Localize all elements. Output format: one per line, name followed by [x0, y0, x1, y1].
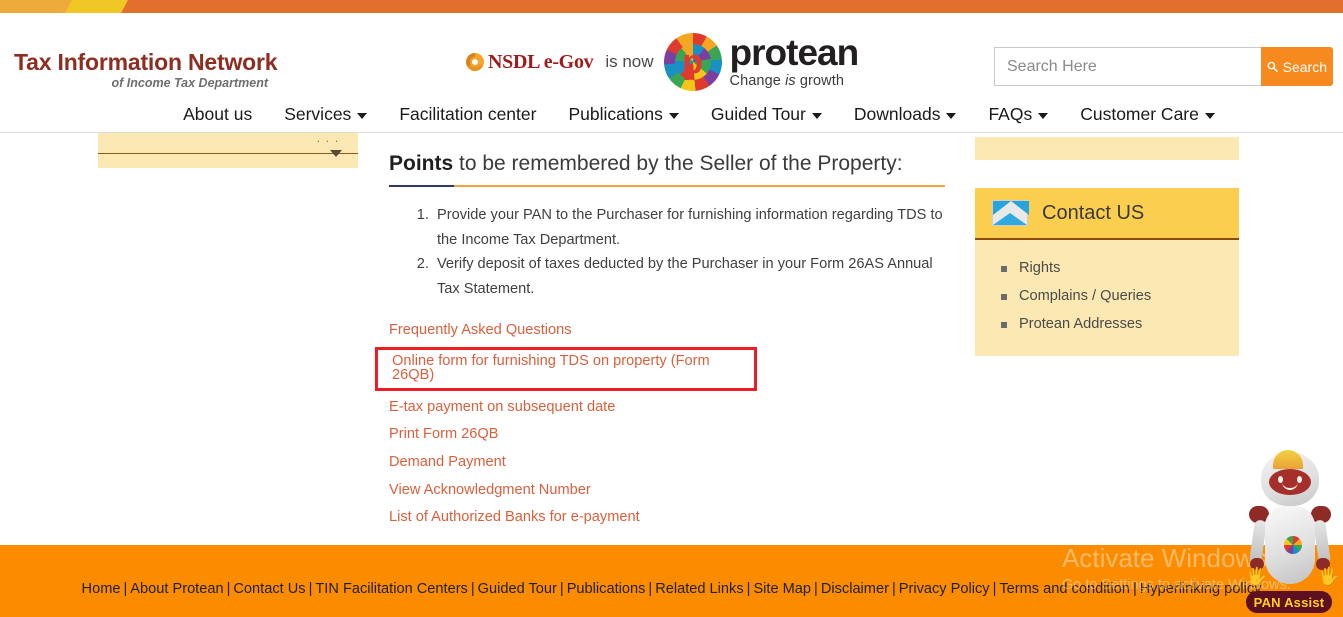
- nav-item-facilitation-center[interactable]: Facilitation center: [383, 104, 552, 125]
- right-sidebar-panel-top-fragment: [975, 137, 1239, 160]
- nav-item-downloads[interactable]: Downloads: [838, 104, 973, 125]
- robot-hand-right: 🖐: [1318, 568, 1334, 584]
- footer-separator: |: [468, 581, 478, 597]
- nsdl-swirl-icon: [466, 53, 484, 71]
- link-demand-payment[interactable]: Demand Payment: [389, 449, 506, 477]
- search-bar: Search: [994, 47, 1333, 86]
- footer-separator: |: [645, 581, 655, 597]
- chevron-down-icon: [357, 113, 367, 119]
- footer-separator: |: [306, 581, 316, 597]
- nav-item-customer-care[interactable]: Customer Care: [1064, 104, 1231, 125]
- footer-link-disclaimer[interactable]: Disclaimer: [821, 581, 889, 597]
- nav-item-services[interactable]: Services: [268, 104, 383, 125]
- page-title: Points to be remembered by the Seller of…: [389, 152, 945, 185]
- chevron-down-icon[interactable]: [330, 150, 342, 157]
- left-sidebar-panel[interactable]: ...: [98, 133, 358, 168]
- footer-link-terms-and-condition[interactable]: Terms and condition: [999, 581, 1130, 597]
- pan-assist-widget[interactable]: 🖐 🖐 PAN Assist: [1240, 448, 1340, 616]
- footer-link-tin-facilitation-centers[interactable]: TIN Facilitation Centers: [315, 581, 467, 597]
- footer-link-guided-tour[interactable]: Guided Tour: [478, 581, 557, 597]
- contact-us-title: Contact US: [1042, 202, 1144, 225]
- link-view-acknowledgment-number[interactable]: View Acknowledgment Number: [389, 477, 591, 505]
- footer-links: Home|About Protean|Contact Us|TIN Facili…: [0, 581, 1343, 597]
- page-root: Tax Information Network of Income Tax De…: [0, 0, 1343, 617]
- partner-logo-block: NSDL e-Gov is now protean Change is grow…: [466, 33, 858, 91]
- link-online-form-26qb[interactable]: Online form for furnishing TDS on proper…: [375, 347, 757, 391]
- link-etax-subsequent-date[interactable]: E-tax payment on subsequent date: [389, 394, 615, 422]
- nav-label: FAQs: [988, 104, 1032, 125]
- site-header: Tax Information Network of Income Tax De…: [0, 13, 1343, 120]
- title-underline: [389, 185, 945, 187]
- page-title-bold: Points: [389, 152, 453, 175]
- nav-item-about-us[interactable]: About us: [167, 104, 268, 125]
- brand-block[interactable]: Tax Information Network of Income Tax De…: [14, 50, 314, 90]
- link-print-form-26qb[interactable]: Print Form 26QB: [389, 421, 498, 449]
- footer-link-about-protean[interactable]: About Protean: [130, 581, 223, 597]
- footer-separator: |: [811, 581, 821, 597]
- brand-subtitle: of Income Tax Department: [14, 76, 268, 90]
- related-links-list: Frequently Asked Questions Online form f…: [389, 317, 945, 532]
- chevron-down-icon: [1205, 113, 1215, 119]
- main-navigation: About us Services Facilitation center Pu…: [0, 95, 1343, 133]
- protean-wordmark: protean Change is growth: [730, 35, 859, 89]
- nav-label: About us: [183, 104, 252, 125]
- top-decorative-strip: [0, 0, 1343, 13]
- tagline-part-1: Change: [730, 73, 786, 89]
- nav-label: Facilitation center: [399, 104, 536, 125]
- contact-us-list: Rights Complains / Queries Protean Addre…: [975, 240, 1239, 356]
- tagline-part-2: growth: [796, 73, 844, 89]
- footer-separator: |: [224, 581, 234, 597]
- footer-separator: |: [557, 581, 567, 597]
- list-item: Provide your PAN to the Purchaser for fu…: [433, 203, 945, 252]
- nav-item-guided-tour[interactable]: Guided Tour: [695, 104, 838, 125]
- chevron-down-icon: [812, 113, 822, 119]
- contact-item-rights[interactable]: Rights: [975, 254, 1239, 282]
- nav-label: Services: [284, 104, 351, 125]
- footer-link-privacy-policy[interactable]: Privacy Policy: [899, 581, 990, 597]
- footer-link-publications[interactable]: Publications: [567, 581, 646, 597]
- page-title-rest: to be remembered by the Seller of the Pr…: [453, 152, 902, 175]
- footer-link-home[interactable]: Home: [82, 581, 121, 597]
- footer-separator: |: [889, 581, 899, 597]
- chevron-down-icon: [669, 113, 679, 119]
- footer-link-contact-us[interactable]: Contact Us: [233, 581, 305, 597]
- footer-link-site-map[interactable]: Site Map: [753, 581, 811, 597]
- search-input[interactable]: [994, 47, 1261, 86]
- link-faq[interactable]: Frequently Asked Questions: [389, 317, 572, 345]
- left-sidebar-divider: [98, 153, 358, 154]
- contact-us-card: Contact US Rights Complains / Queries Pr…: [975, 188, 1239, 356]
- nav-label: Guided Tour: [711, 104, 806, 125]
- chevron-down-icon: [946, 113, 956, 119]
- robot-face: [1269, 469, 1311, 495]
- protean-globe-icon: [1284, 536, 1302, 554]
- footer-separator: |: [990, 581, 1000, 597]
- footer-link-related-links[interactable]: Related Links: [655, 581, 743, 597]
- pan-assist-button[interactable]: PAN Assist: [1246, 591, 1332, 613]
- nav-item-faqs[interactable]: FAQs: [972, 104, 1064, 125]
- nav-label: Downloads: [854, 104, 941, 125]
- search-icon: [1267, 60, 1278, 73]
- nsdl-egov-logo-text: NSDL e-Gov: [488, 51, 593, 74]
- main-content: Points to be remembered by the Seller of…: [389, 152, 945, 532]
- left-sidebar-truncated-text: ...: [317, 133, 344, 145]
- protean-name: protean: [730, 32, 859, 73]
- protean-globe-icon: [664, 33, 722, 91]
- protean-tagline: Change is growth: [730, 73, 859, 89]
- nav-label: Publications: [568, 104, 662, 125]
- contact-item-protean-addresses[interactable]: Protean Addresses: [975, 310, 1239, 338]
- strip-segment-orange: [160, 0, 1343, 13]
- link-authorized-banks[interactable]: List of Authorized Banks for e-payment: [389, 504, 640, 532]
- chevron-down-icon: [1038, 113, 1048, 119]
- robot-smile: [1282, 482, 1298, 490]
- nav-item-publications[interactable]: Publications: [552, 104, 694, 125]
- brand-title: Tax Information Network: [14, 50, 314, 74]
- search-button-label: Search: [1283, 59, 1327, 75]
- site-footer: Home|About Protean|Contact Us|TIN Facili…: [0, 545, 1343, 617]
- is-now-label: is now: [605, 52, 653, 72]
- contact-item-complains-queries[interactable]: Complains / Queries: [975, 282, 1239, 310]
- list-item: Verify deposit of taxes deducted by the …: [433, 252, 945, 301]
- robot-hand-left: 🖐: [1246, 568, 1262, 584]
- contact-us-header: Contact US: [975, 188, 1239, 240]
- envelope-icon: [992, 200, 1028, 226]
- tagline-italic-is: is: [785, 73, 796, 89]
- footer-separator: |: [1130, 581, 1140, 597]
- footer-separator: |: [744, 581, 754, 597]
- footer-separator: |: [120, 581, 130, 597]
- search-button[interactable]: Search: [1261, 47, 1333, 86]
- nav-label: Customer Care: [1080, 104, 1199, 125]
- points-list: Provide your PAN to the Purchaser for fu…: [389, 203, 945, 301]
